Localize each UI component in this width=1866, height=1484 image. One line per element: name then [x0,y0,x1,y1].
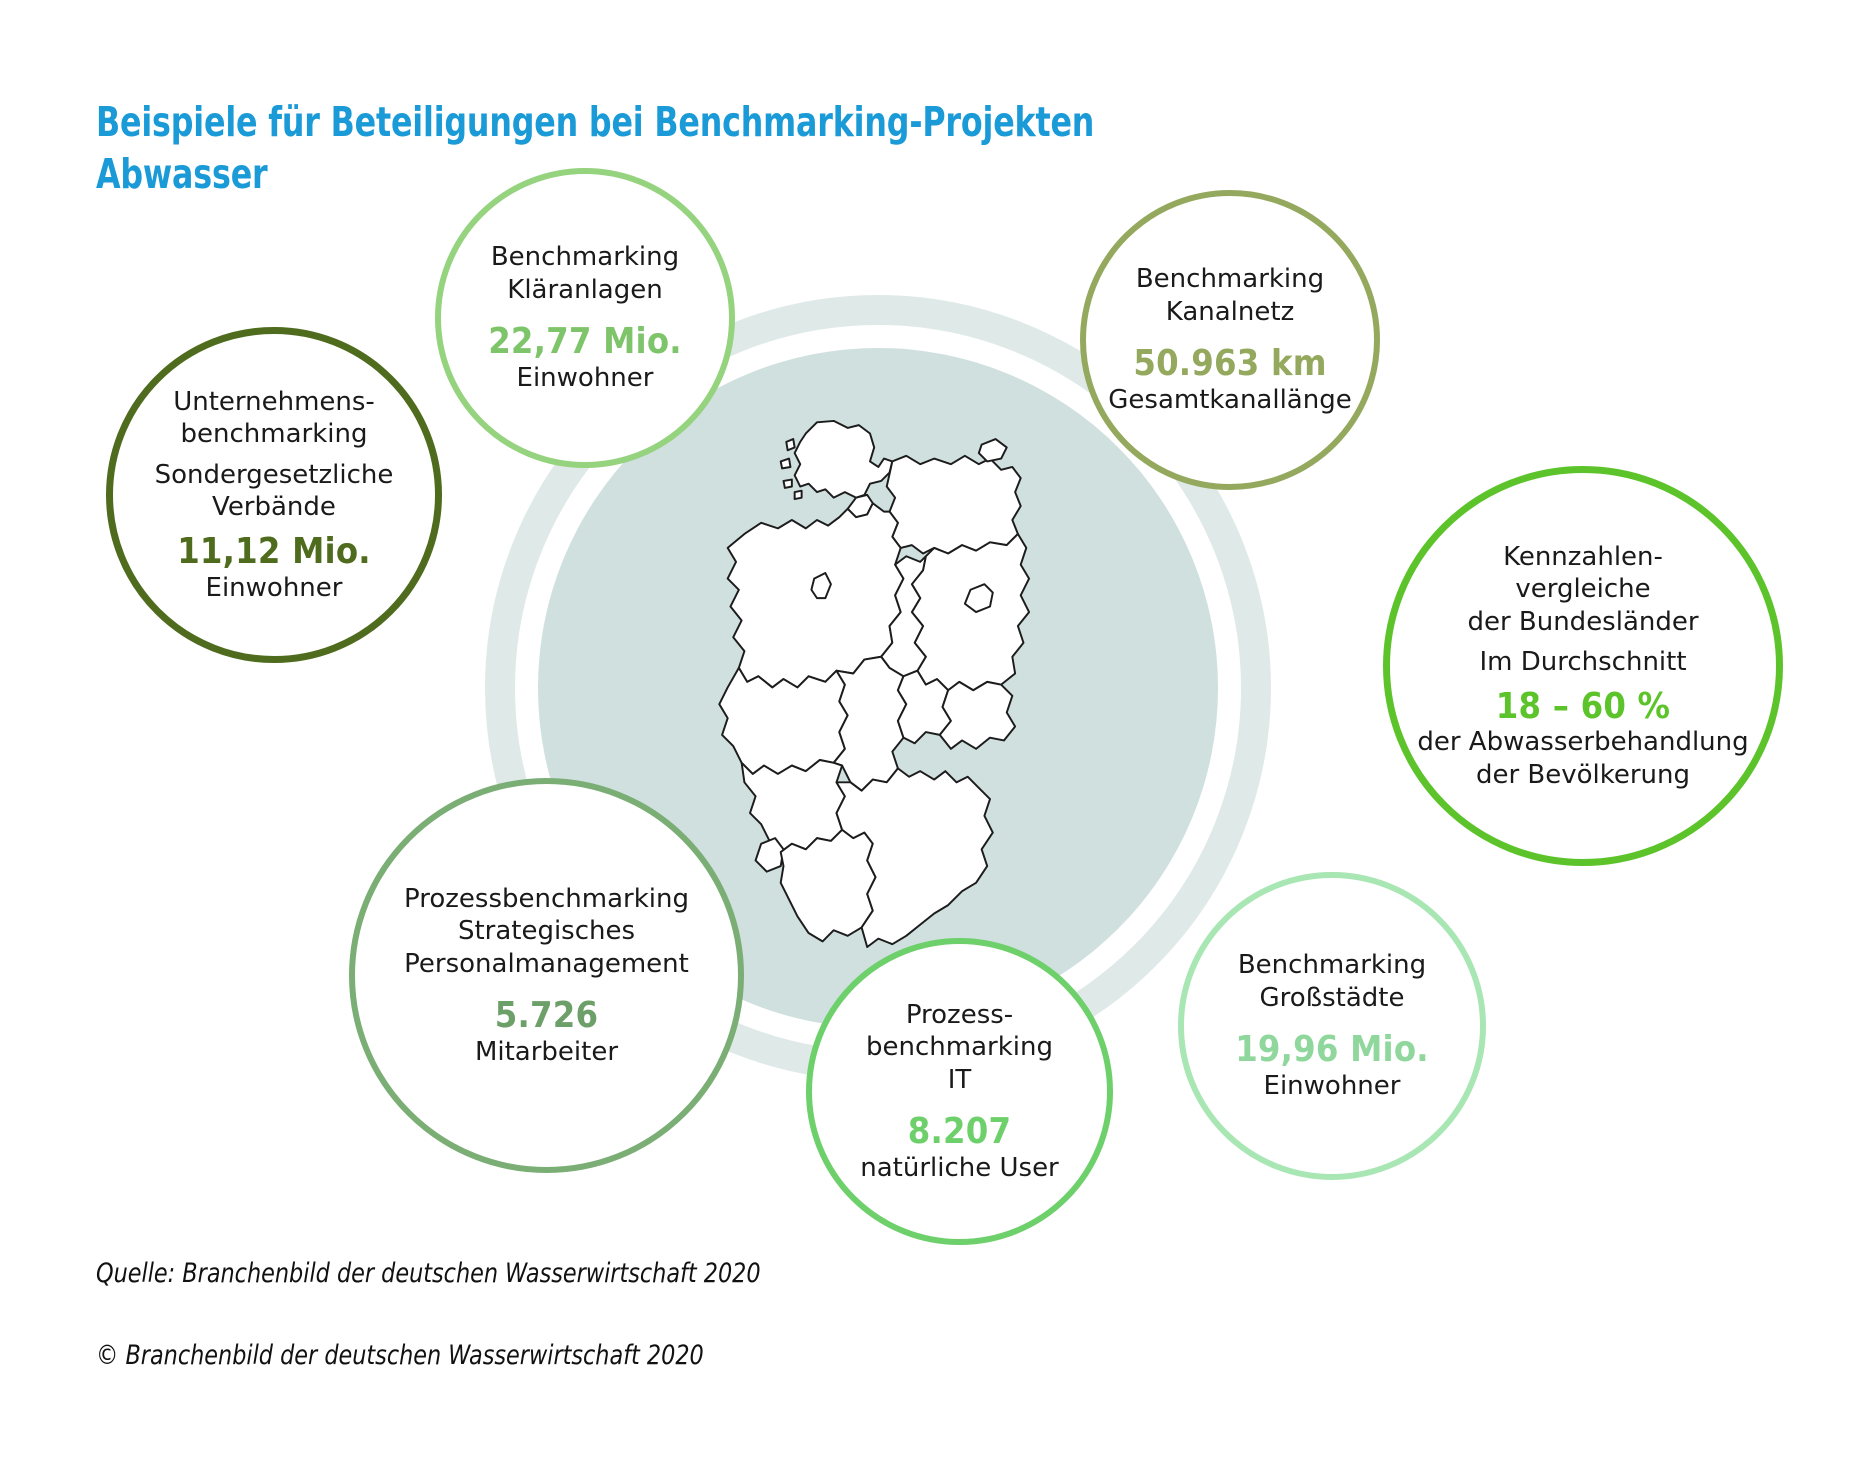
state-nordrhein-westfalen [719,668,847,774]
bubble-benchmarking-kanalnetz[interactable]: Benchmarking Kanalnetz 50.963 km Gesamtk… [1080,190,1380,490]
bubble-benchmarking-klaeranlagen[interactable]: Benchmarking Kläranlagen 22,77 Mio. Einw… [435,168,735,468]
bubble-benchmarking-grossstaedte[interactable]: Benchmarking Großstädte 19,96 Mio. Einwo… [1178,872,1486,1180]
state-brandenburg [912,534,1029,690]
bubble-subtitle: Im Durchschnitt [1479,646,1686,679]
bubble-value: 22,77 Mio. [488,322,682,362]
bubble-value: 11,12 Mio. [177,532,371,572]
source-note: Quelle: Branchenbild der deutschen Wasse… [96,1258,761,1289]
bubble-prozessbenchmarking-personal[interactable]: Prozessbenchmarking Strategisches Person… [349,778,744,1173]
bubble-subtitle: Sondergesetzliche Verbände [155,459,394,524]
island-sylt [786,439,794,450]
state-saarland [756,838,784,871]
bubble-heading: Benchmarking Kläranlagen [491,241,679,306]
state-mecklenburg-vorpommern [887,456,1021,554]
bubble-value: 8.207 [908,1112,1011,1152]
bubble-unit: natürliche User [860,1152,1059,1185]
bubble-value: 5.726 [495,996,598,1036]
state-baden-wuerttemberg [781,830,876,942]
copyright-note: © Branchenbild der deutschen Wasserwirts… [96,1340,704,1371]
island-nordstrand [795,491,802,499]
bubble-heading: Benchmarking Großstädte [1238,949,1426,1014]
bubble-unit: Einwohner [1264,1070,1401,1103]
state-schleswig-holstein [795,421,893,498]
bubble-value: 19,96 Mio. [1235,1030,1429,1070]
island-foehr [781,459,791,469]
bubble-unit: Gesamtkanallänge [1108,384,1351,417]
bubble-heading: Prozess- benchmarking IT [866,999,1053,1097]
bubble-heading: Benchmarking Kanalnetz [1136,263,1324,328]
bubble-unit: Mitarbeiter [475,1036,618,1069]
state-rheinland-pfalz [742,760,845,852]
bubble-kennzahlenvergleiche[interactable]: Kennzahlen- vergleiche der Bundesländer … [1383,466,1783,866]
bubble-value: 18 – 60 % [1496,687,1670,727]
bubble-heading: Kennzahlen- vergleiche der Bundesländer [1467,541,1698,639]
island-pellworm [783,480,791,488]
state-sachsen [940,682,1015,749]
bubble-unit: der Abwasserbehandlung der Bevölkerung [1417,726,1748,791]
bubble-heading: Prozessbenchmarking Strategisches Person… [404,883,689,981]
bubble-heading: Unternehmens- benchmarking [173,386,375,451]
bubble-unternehmensbenchmarking[interactable]: Unternehmens- benchmarking Sondergesetzl… [106,327,442,663]
bubble-value: 50.963 km [1133,344,1326,384]
island-ruegen [979,439,1007,461]
bubble-unit: Einwohner [517,362,654,395]
bubble-unit: Einwohner [206,572,343,605]
bubble-prozessbenchmarking-it[interactable]: Prozess- benchmarking IT 8.207 natürlich… [806,938,1113,1245]
infographic-canvas: Beispiele für Beteiligungen bei Benchmar… [0,0,1866,1484]
